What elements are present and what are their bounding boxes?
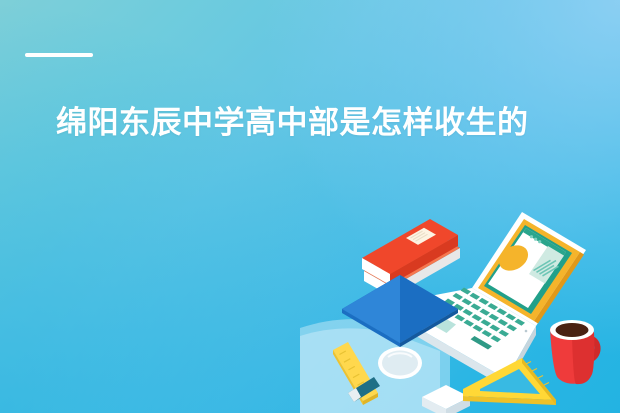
accent-rule bbox=[25, 53, 93, 57]
promo-banner: 绵阳东辰中学高中部是怎样收生的 bbox=[0, 0, 620, 413]
page-title: 绵阳东辰中学高中部是怎样收生的 bbox=[56, 103, 529, 143]
study-desk-illustration bbox=[300, 178, 620, 413]
coffee-mug-shape bbox=[550, 320, 601, 384]
